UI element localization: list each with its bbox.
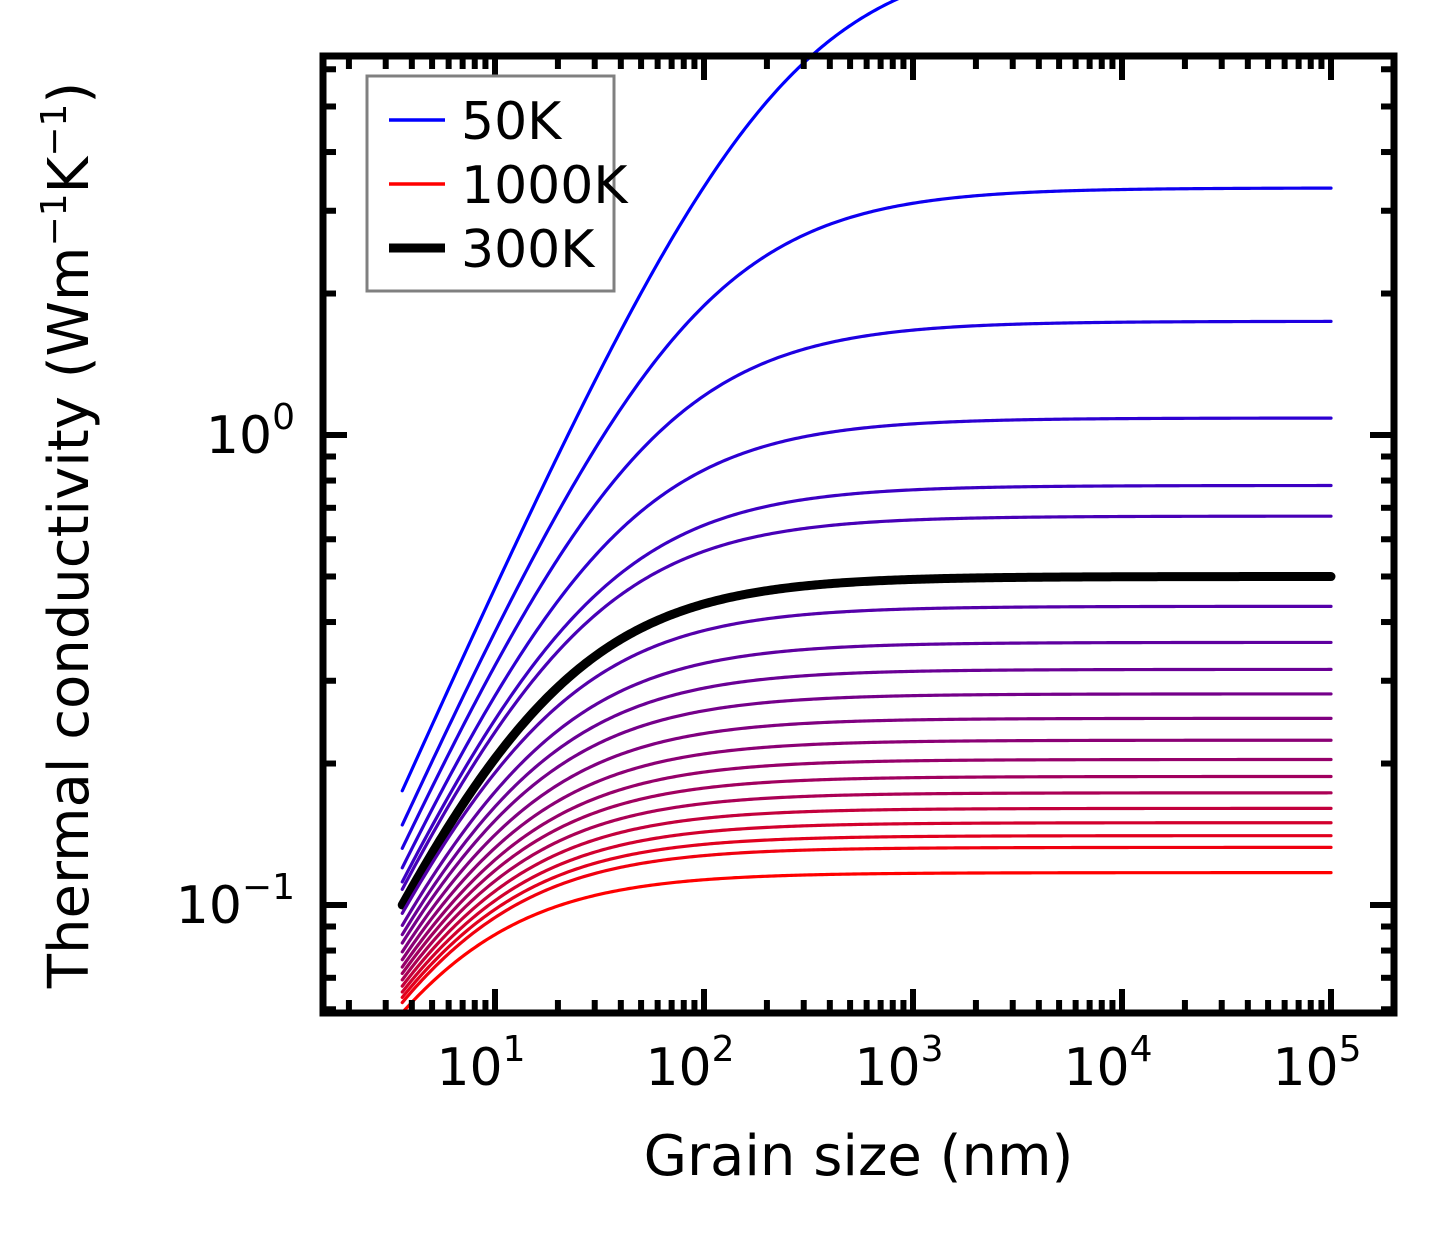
x-axis-title-text: Grain size (nm) bbox=[644, 1124, 1074, 1189]
legend-label-1000k[interactable]: 1000K bbox=[461, 156, 629, 216]
legend-label-300k[interactable]: 300K bbox=[461, 220, 596, 280]
thermal-conductivity-log-log-chart: 101102103104105 10010−1 Grain size (nm) … bbox=[0, 0, 1454, 1254]
legend-label-50k[interactable]: 50K bbox=[461, 92, 563, 152]
chart-legend[interactable]: 50K1000K300K bbox=[367, 76, 629, 291]
x-axis-title: Grain size (nm) bbox=[644, 1124, 1074, 1189]
figure-canvas: 101102103104105 10010−1 Grain size (nm) … bbox=[0, 0, 1454, 1254]
